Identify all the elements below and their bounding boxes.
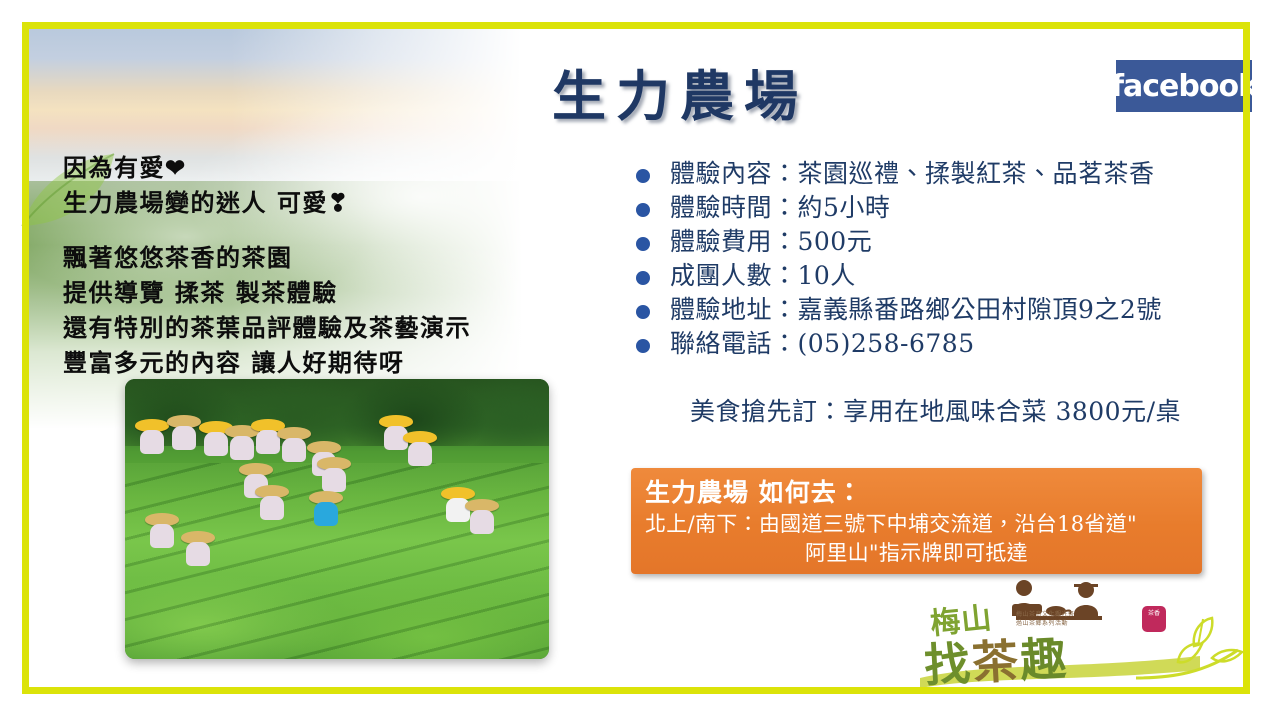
bullet-dot-icon [636,237,650,251]
bullet-text: 成團人數：10人 [670,260,856,292]
photo-picker [259,485,285,519]
photo-picker [407,431,433,465]
poem-line-1: 因為有愛❤ [63,150,533,185]
photo-picker [281,427,307,461]
photo-picker [203,421,229,455]
photo-picker [171,415,197,449]
list-item: 成團人數：10人 [636,260,1236,292]
photo-picker [185,531,211,565]
poem-line-3: 飄著悠悠茶香的茶園 [63,240,533,275]
photo-picker [229,425,255,459]
bullet-text: 體驗地址：嘉義縣番路鄉公田村隙頂9之2號 [670,294,1162,326]
photo-picker [139,419,165,453]
list-item: 體驗時間：約5小時 [636,192,1236,224]
list-item: 體驗費用：500元 [636,226,1236,258]
bullet-text: 體驗費用：500元 [670,226,872,258]
poem-line-5: 還有特別的茶葉品評體驗及茶藝演示 [63,310,533,345]
slide-root: 生力農場 facebook 因為有愛❤ 生力農場變的迷人 可愛❣ 飄著悠悠茶香的… [0,0,1280,720]
tea-picking-photo [125,379,549,659]
festival-word-main-3: 趣 [1019,631,1070,687]
bullet-dot-icon [636,271,650,285]
bullet-dot-icon [636,203,650,217]
directions-line-2: 阿里山"指示牌即可抵達 [645,539,1188,568]
experience-info-list: 體驗內容：茶園巡禮、揉製紅茶、品茗茶香 體驗時間：約5小時 體驗費用：500元 … [636,158,1236,362]
directions-body: 北上/南下：由國道三號下中埔交流道，沿台18省道" 阿里山"指示牌即可抵達 [645,510,1188,568]
festival-word-main-1: 找 [923,636,974,692]
bullet-text: 體驗內容：茶園巡禮、揉製紅茶、品茗茶香 [670,158,1155,190]
meal-preorder-text: 美食搶先訂：享用在地風味合菜 3800元/桌 [690,392,1181,428]
poem-line-2: 生力農場變的迷人 可愛❣ [63,185,533,220]
bullet-dot-icon [636,169,650,183]
list-item: 體驗內容：茶園巡禮、揉製紅茶、品茗茶香 [636,158,1236,190]
poem-line-6: 豐富多元的內容 讓人好期待呀 [63,345,533,380]
photo-picker [313,491,339,525]
festival-logo: 梅山茶商文化觀光祭 過山茶鄉系列活動 茶香 梅山 找茶趣 [920,578,1200,690]
festival-word-main-2: 茶 [971,634,1022,690]
facebook-badge[interactable]: facebook [1116,60,1252,112]
poem-line-4: 提供導覽 揉茶 製茶體驗 [63,275,533,310]
directions-line-1: 北上/南下：由國道三號下中埔交流道，沿台18省道" [645,512,1137,536]
bullet-text: 聯絡電話：(05)258-6785 [670,328,975,360]
directions-title: 生力農場 如何去： [645,476,1188,510]
list-item: 聯絡電話：(05)258-6785 [636,328,1236,360]
page-title: 生力農場 [470,52,890,131]
bullet-text: 體驗時間：約5小時 [670,192,890,224]
photo-picker [469,499,495,533]
photo-picker [149,513,175,547]
photo-picker [321,457,347,491]
festival-caption-line-1: 梅山茶商文化觀光祭 [1016,610,1136,619]
poem-spacer [63,220,533,240]
poem-block: 因為有愛❤ 生力農場變的迷人 可愛❣ 飄著悠悠茶香的茶園 提供導覽 揉茶 製茶體… [63,150,533,380]
directions-box: 生力農場 如何去： 北上/南下：由國道三號下中埔交流道，沿台18省道" 阿里山"… [631,468,1202,574]
facebook-label: facebook [1111,69,1257,104]
bullet-dot-icon [636,305,650,319]
photo-picker [383,415,409,449]
bullet-dot-icon [636,339,650,353]
festival-stamp: 茶香 [1142,606,1166,632]
list-item: 體驗地址：嘉義縣番路鄉公田村隙頂9之2號 [636,294,1236,326]
festival-word-main: 找茶趣 [922,622,1069,695]
